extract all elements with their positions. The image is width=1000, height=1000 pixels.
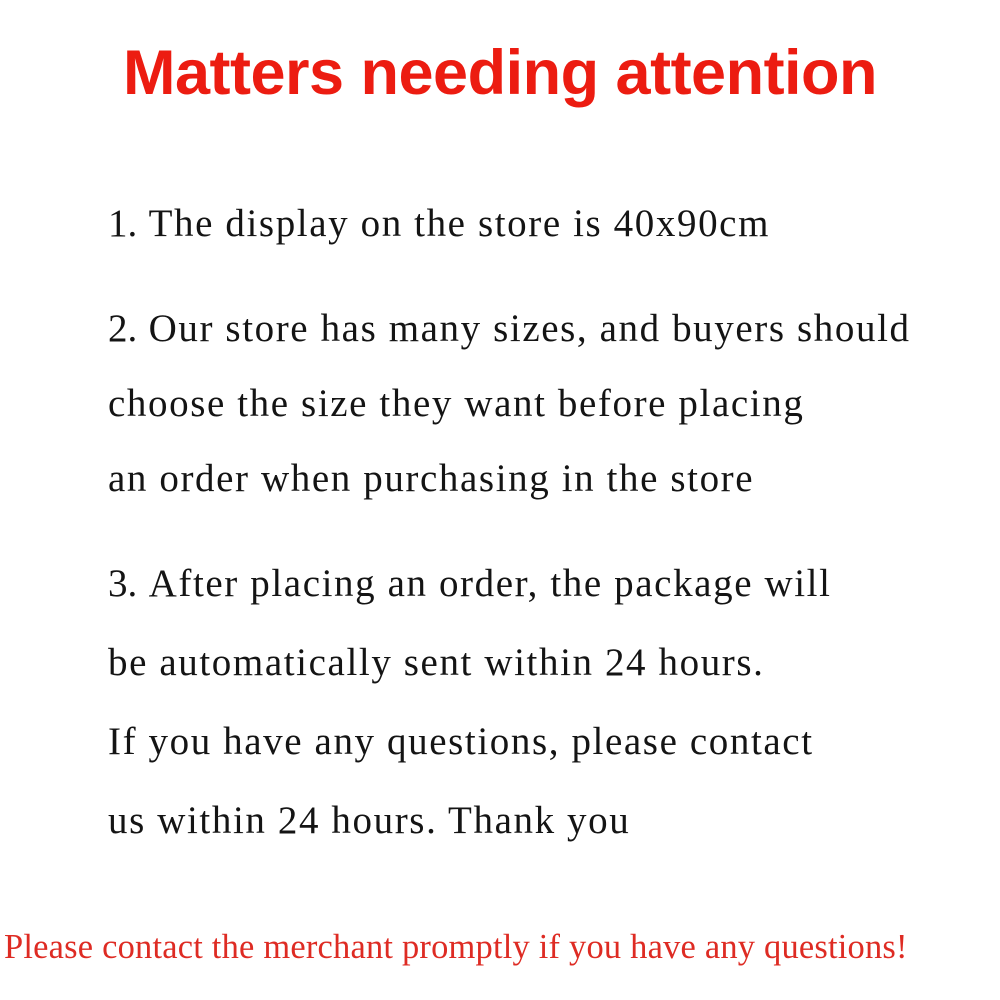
footer-warning-note: Please contact the merchant promptly if … — [4, 925, 981, 969]
notice-page: Matters needing attention 1. The display… — [0, 0, 1000, 1000]
list-item: 2. Our store has many sizes, and buyers … — [108, 291, 968, 516]
list-item-text: The display on the store is 40x90cm — [149, 202, 770, 245]
list-item-line: an order when purchasing in the store — [108, 441, 968, 516]
page-title: Matters needing attention — [0, 38, 1000, 108]
list-item-line: 3. After placing an order, the package w… — [108, 544, 968, 623]
list-item: 1. The display on the store is 40x90cm — [108, 186, 968, 261]
list-item-line: be automatically sent within 24 hours. — [108, 623, 968, 702]
notice-list: 1. The display on the store is 40x90cm 2… — [108, 186, 968, 860]
list-item-text: After placing an order, the package will — [149, 562, 832, 605]
list-item-line: choose the size they want before placing — [108, 366, 968, 441]
list-item-text: Our store has many sizes, and buyers sho… — [149, 307, 911, 350]
list-item-line: 2. Our store has many sizes, and buyers … — [108, 291, 968, 366]
list-item: 3. After placing an order, the package w… — [108, 544, 968, 860]
list-item-number: 2. — [108, 307, 137, 350]
list-item-line: If you have any questions, please contac… — [108, 702, 968, 781]
list-item-number: 1. — [108, 202, 137, 245]
list-item-number: 3. — [108, 562, 137, 605]
list-item-line: 1. The display on the store is 40x90cm — [108, 186, 968, 261]
list-item-line: us within 24 hours. Thank you — [108, 781, 968, 860]
